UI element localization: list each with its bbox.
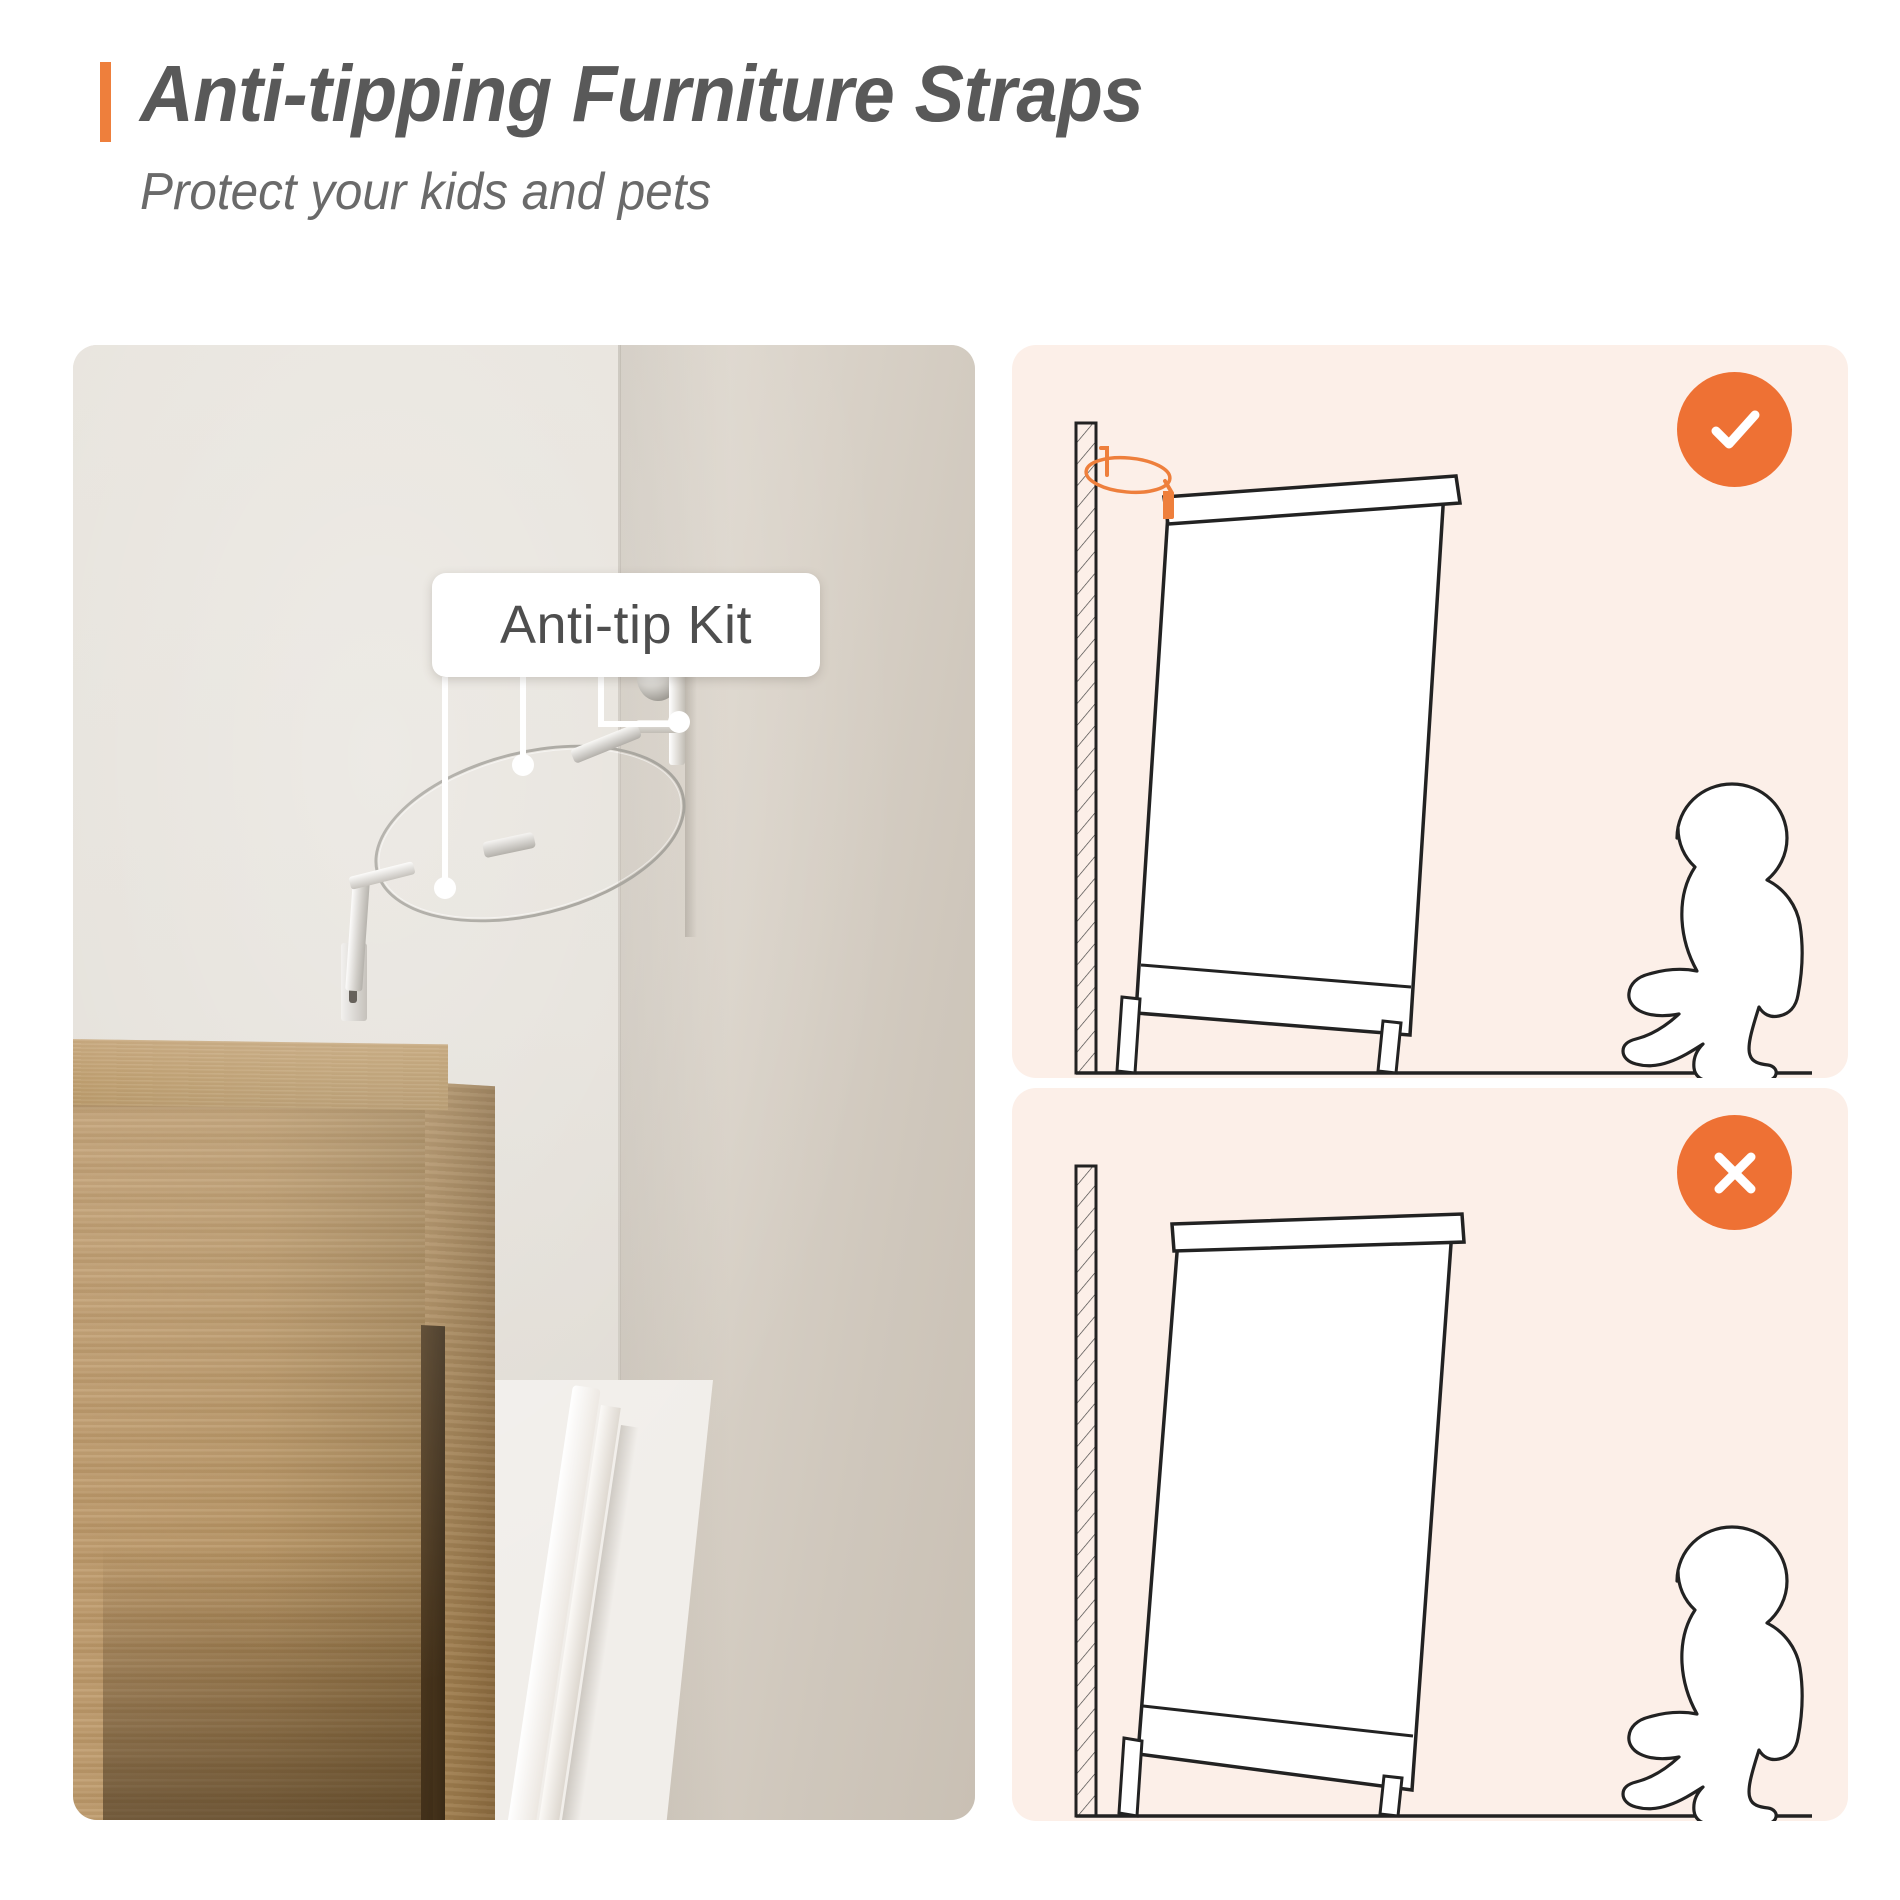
callout-box: Anti-tip Kit [432,573,820,677]
product-photo-panel: Anti-tip Kit [73,345,975,1820]
cabinet-top-grain [73,1039,448,1110]
cross-icon [1701,1139,1769,1207]
callout-dot-cabinet-bracket [434,877,456,899]
cabinet-top-surface [73,1039,448,1110]
status-badge-correct [1677,372,1792,487]
product-marketing-image: Anti-tipping Furniture Straps Protect yo… [0,0,1900,1900]
page-subtitle: Protect your kids and pets [140,162,711,222]
status-badge-incorrect [1677,1115,1792,1230]
callout-dot-cable [512,754,534,776]
cabinet-lower-shadow [103,1545,433,1820]
accent-bar [100,62,111,142]
callout-leader-line-3-horizontal [598,721,678,727]
check-icon [1701,396,1769,464]
callout-label: Anti-tip Kit [500,594,752,656]
comparison-panel-incorrect [1012,1088,1848,1821]
callout-dot-wall-bracket [668,711,690,733]
wall-bracket-shadow [685,637,697,937]
callout-leader-line-1 [442,677,448,893]
comparison-panel-correct [1012,345,1848,1078]
callout-leader-line-3 [598,677,604,727]
page-title: Anti-tipping Furniture Straps [140,48,1143,140]
header: Anti-tipping Furniture Straps Protect yo… [0,0,1900,300]
